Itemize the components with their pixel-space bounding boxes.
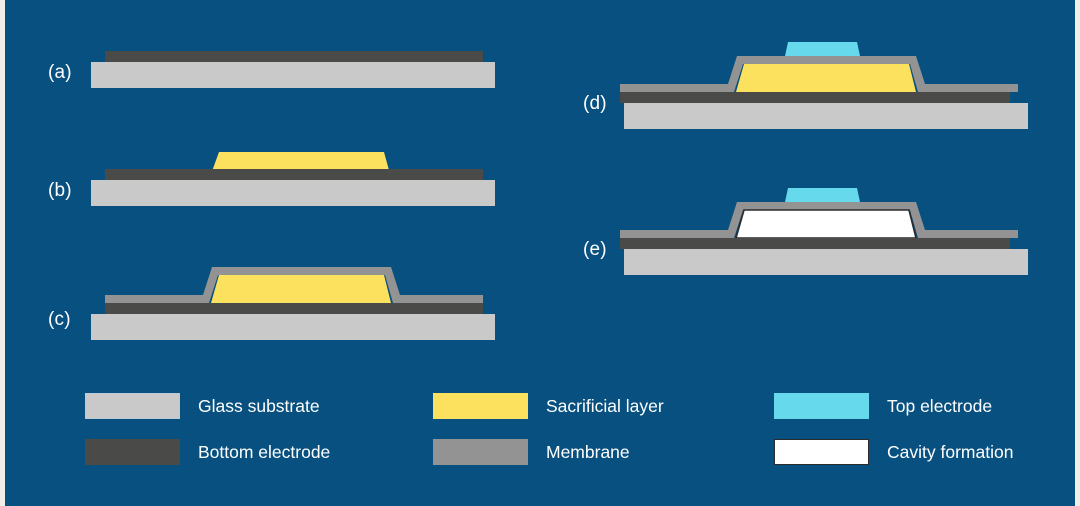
panel-c-stack: [75, 258, 545, 378]
sacrificial-layer-swatch: [433, 393, 528, 419]
panel-b-label: (b): [48, 180, 72, 202]
bottom-electrode-e: [620, 238, 1010, 249]
legend-label-cavity-formation: Cavity formation: [887, 442, 1013, 463]
bottom-electrode-swatch: [85, 439, 180, 465]
top-electrode-d: [785, 42, 860, 56]
bottom-electrode-a: [105, 51, 483, 62]
sacrificial-layer-c: [211, 275, 391, 303]
figure-canvas: (a) (b) (c): [5, 0, 1075, 506]
legend-label-bottom-electrode: Bottom electrode: [198, 442, 330, 463]
cavity-e: [736, 210, 916, 238]
panel-e-label: (e): [583, 239, 607, 261]
panel-d-label: (d): [583, 93, 607, 115]
legend-item-membrane: Membrane: [433, 439, 630, 465]
legend-label-glass-substrate: Glass substrate: [198, 396, 320, 417]
glass-substrate-d: [624, 103, 1028, 129]
legend-item-sacrificial-layer: Sacrificial layer: [433, 393, 664, 419]
legend-item-top-electrode: Top electrode: [774, 393, 992, 419]
glass-substrate-c: [91, 314, 495, 340]
bottom-electrode-b: [105, 169, 483, 180]
bottom-electrode-d: [620, 92, 1010, 103]
glass-substrate-swatch: [85, 393, 180, 419]
legend-item-cavity-formation: Cavity formation: [774, 439, 1013, 465]
glass-substrate-e: [624, 249, 1028, 275]
sacrificial-layer-d: [736, 64, 916, 92]
legend-label-top-electrode: Top electrode: [887, 396, 992, 417]
top-electrode-swatch: [774, 393, 869, 419]
bottom-electrode-c: [105, 303, 483, 314]
legend-label-sacrificial-layer: Sacrificial layer: [546, 396, 664, 417]
legend-item-bottom-electrode: Bottom electrode: [85, 439, 330, 465]
panel-c-label: (c): [48, 309, 71, 331]
membrane-swatch: [433, 439, 528, 465]
glass-substrate-a: [91, 62, 495, 88]
panel-a-label: (a): [48, 62, 72, 84]
cavity-formation-swatch: [774, 439, 869, 465]
legend-label-membrane: Membrane: [546, 442, 630, 463]
legend-item-glass-substrate: Glass substrate: [85, 393, 320, 419]
panel-d-stack: [610, 34, 1080, 154]
panel-e-stack: [610, 180, 1080, 300]
glass-substrate-b: [91, 180, 495, 206]
panel-a-stack: [75, 40, 545, 150]
top-electrode-e: [785, 188, 860, 202]
panel-b-stack: [75, 140, 545, 250]
